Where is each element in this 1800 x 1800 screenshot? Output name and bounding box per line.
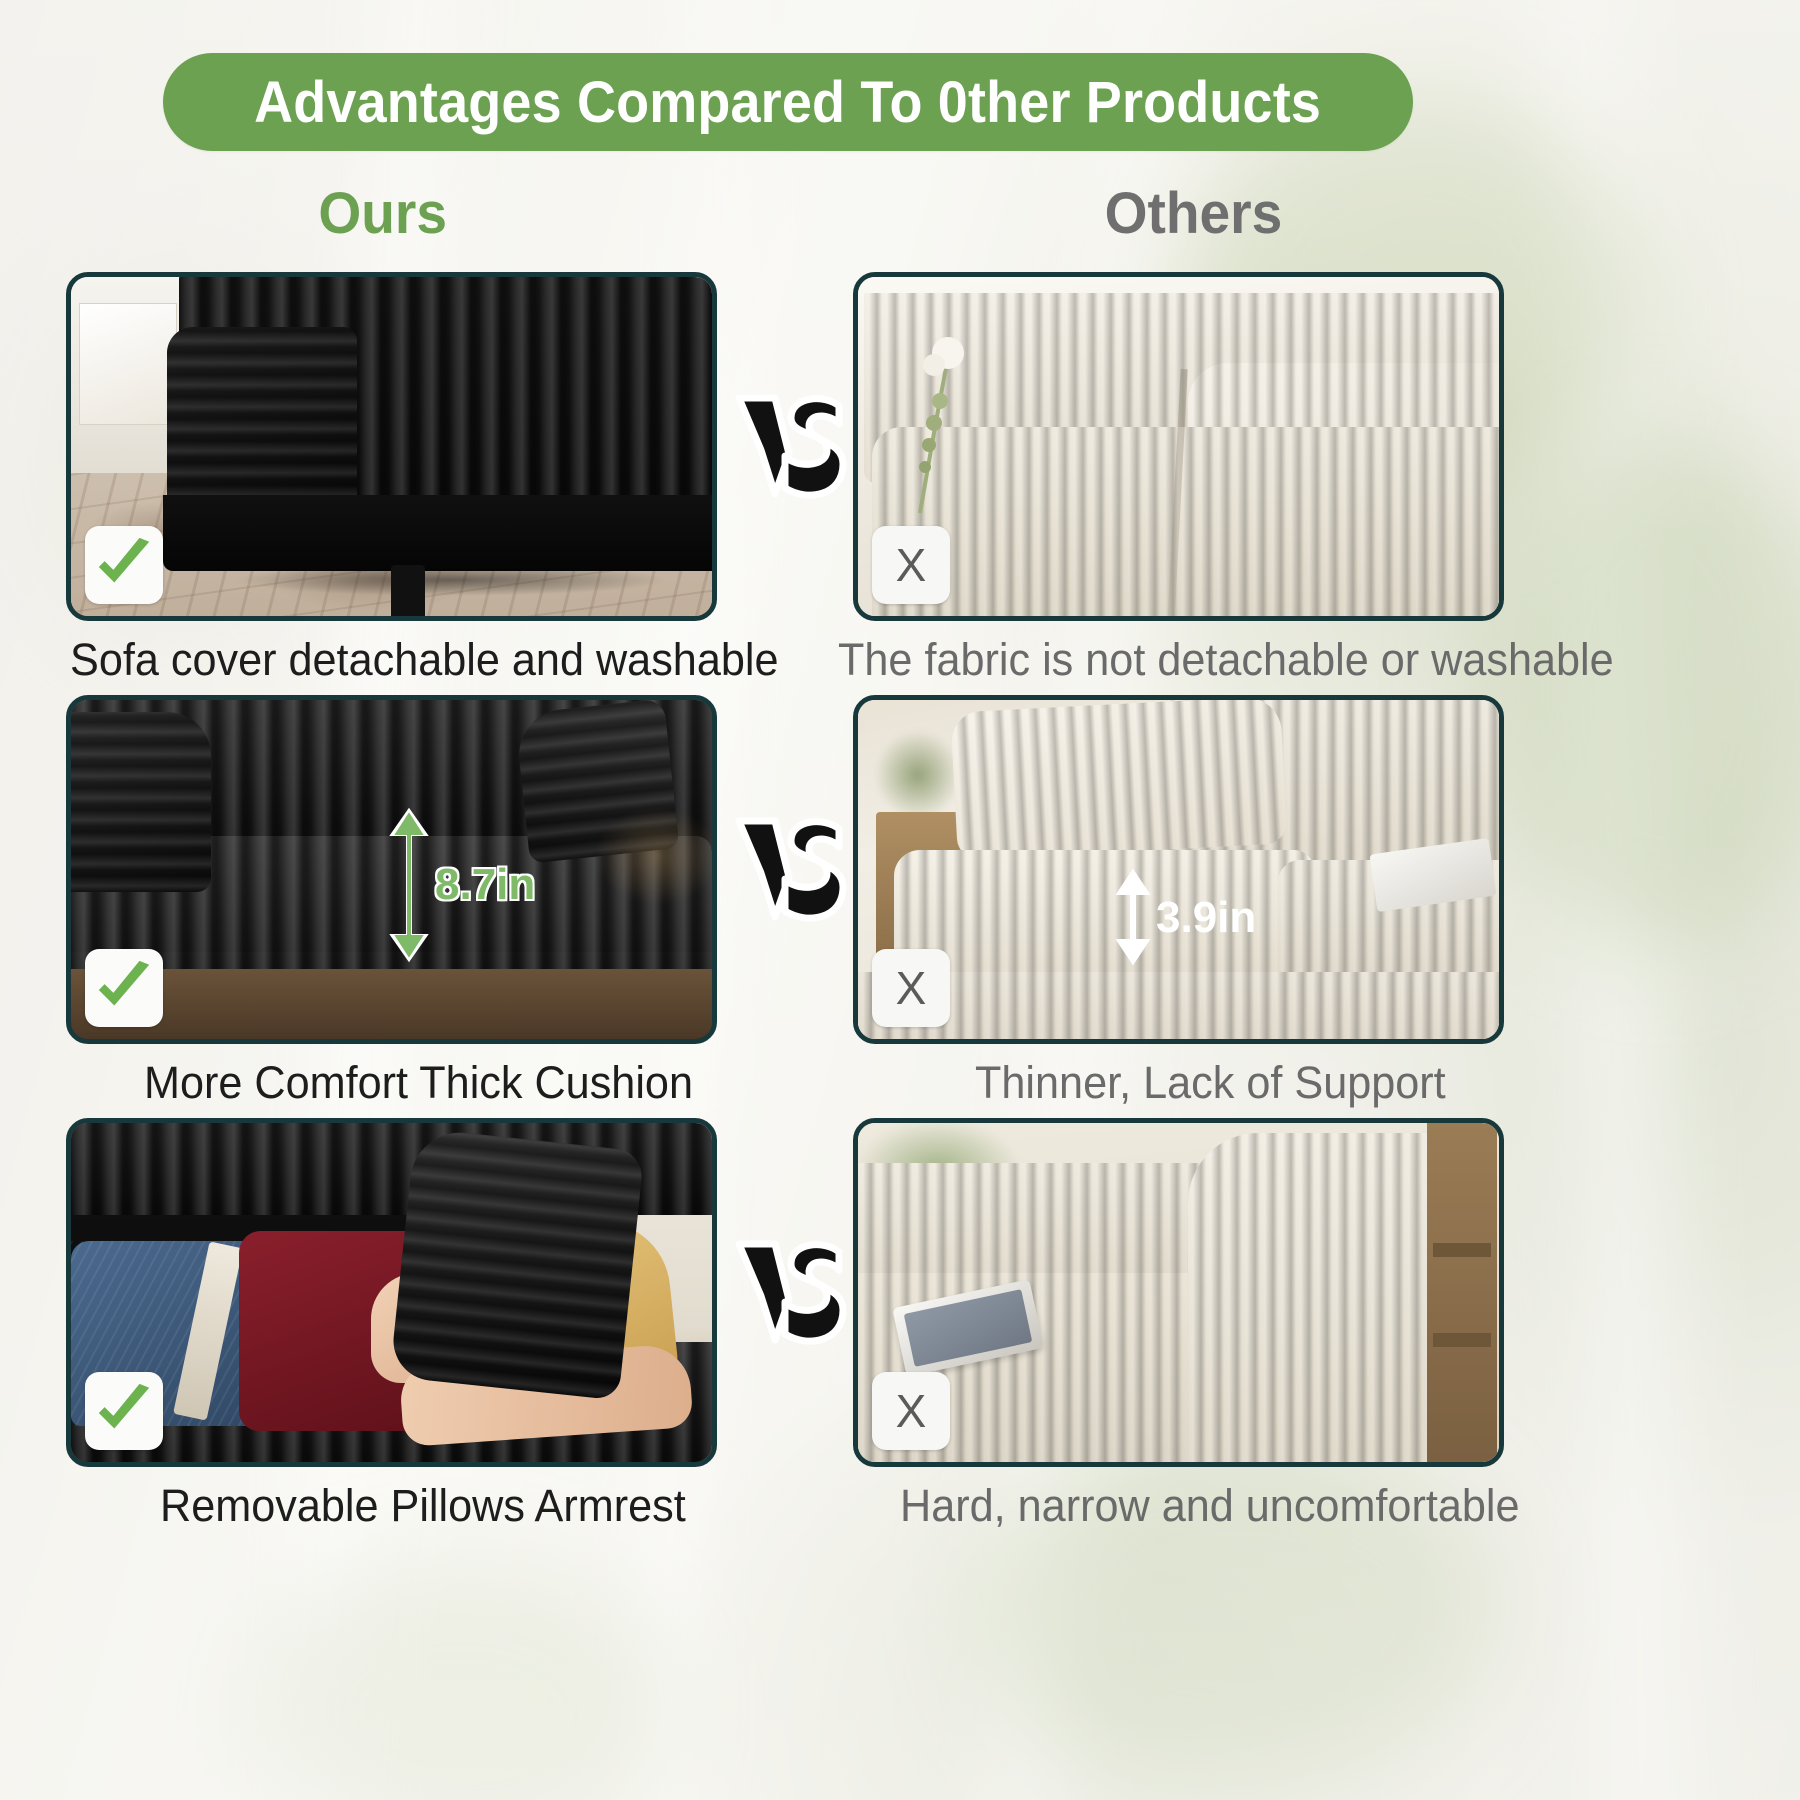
- ours-measurement: 8.7in: [389, 805, 609, 965]
- ours-caption: More Comfort Thick Cushion: [144, 1057, 693, 1109]
- ours-photo-removable-pillow-armrest: [71, 1123, 712, 1462]
- cross-icon: X: [872, 949, 950, 1027]
- others-measurement: 3.9in: [1116, 868, 1316, 966]
- sofa-skirt: [858, 972, 1499, 1044]
- ours-photo-sofa-corner: [71, 277, 712, 616]
- column-header-others: Others: [1105, 180, 1283, 247]
- check-icon: [85, 1372, 163, 1450]
- others-caption: Hard, narrow and uncomfortable: [900, 1480, 1520, 1532]
- removable-pillow: [390, 1128, 645, 1401]
- ours-image-card[interactable]: [66, 1118, 717, 1467]
- page-title: Advantages Compared To 0ther Products: [255, 69, 1322, 136]
- check-icon: [85, 949, 163, 1027]
- cross-glyph: X: [896, 1388, 927, 1434]
- floor: [71, 969, 712, 1039]
- wooden-ladder: [1427, 1123, 1497, 1462]
- comparison-infographic: Advantages Compared To 0ther Products Ou…: [0, 0, 1800, 1800]
- others-image-card[interactable]: X: [853, 272, 1504, 621]
- cross-glyph: X: [896, 965, 927, 1011]
- ours-image-card[interactable]: 8.7in: [66, 695, 717, 1044]
- cross-icon: X: [872, 1372, 950, 1450]
- ours-image-card[interactable]: [66, 272, 717, 621]
- throw-pillow: [950, 695, 1287, 860]
- measurement-label: 8.7in: [435, 863, 535, 907]
- cross-glyph: X: [896, 542, 927, 588]
- ours-caption: Removable Pillows Armrest: [160, 1480, 686, 1532]
- measurement-arrow: [1116, 868, 1150, 966]
- others-image-card[interactable]: 3.9in X: [853, 695, 1504, 1044]
- sofa-armrest: [167, 327, 357, 523]
- others-caption: The fabric is not detachable or washable: [838, 634, 1614, 686]
- others-image-card[interactable]: X: [853, 1118, 1504, 1467]
- check-icon: [85, 526, 163, 604]
- vs-badge: [731, 1238, 851, 1346]
- title-pill: Advantages Compared To 0ther Products: [163, 53, 1413, 151]
- measurement-label: 3.9in: [1156, 896, 1256, 940]
- cross-icon: X: [872, 526, 950, 604]
- others-photo-sofa-corner: [858, 277, 1499, 616]
- ours-caption: Sofa cover detachable and washable: [70, 634, 779, 686]
- vs-badge: [731, 392, 851, 500]
- others-caption: Thinner, Lack of Support: [975, 1057, 1446, 1109]
- sofa-leg: [391, 565, 425, 621]
- vs-badge: [731, 815, 851, 923]
- others-photo-hard-armrest: [858, 1123, 1499, 1462]
- title-banner: Advantages Compared To 0ther Products: [163, 53, 1413, 151]
- sofa-armrest-left: [66, 712, 211, 892]
- sofa-shadow: [151, 557, 717, 603]
- orchid-decoration: [880, 335, 1030, 515]
- measurement-arrow: [389, 805, 429, 965]
- column-header-ours: Ours: [318, 180, 447, 247]
